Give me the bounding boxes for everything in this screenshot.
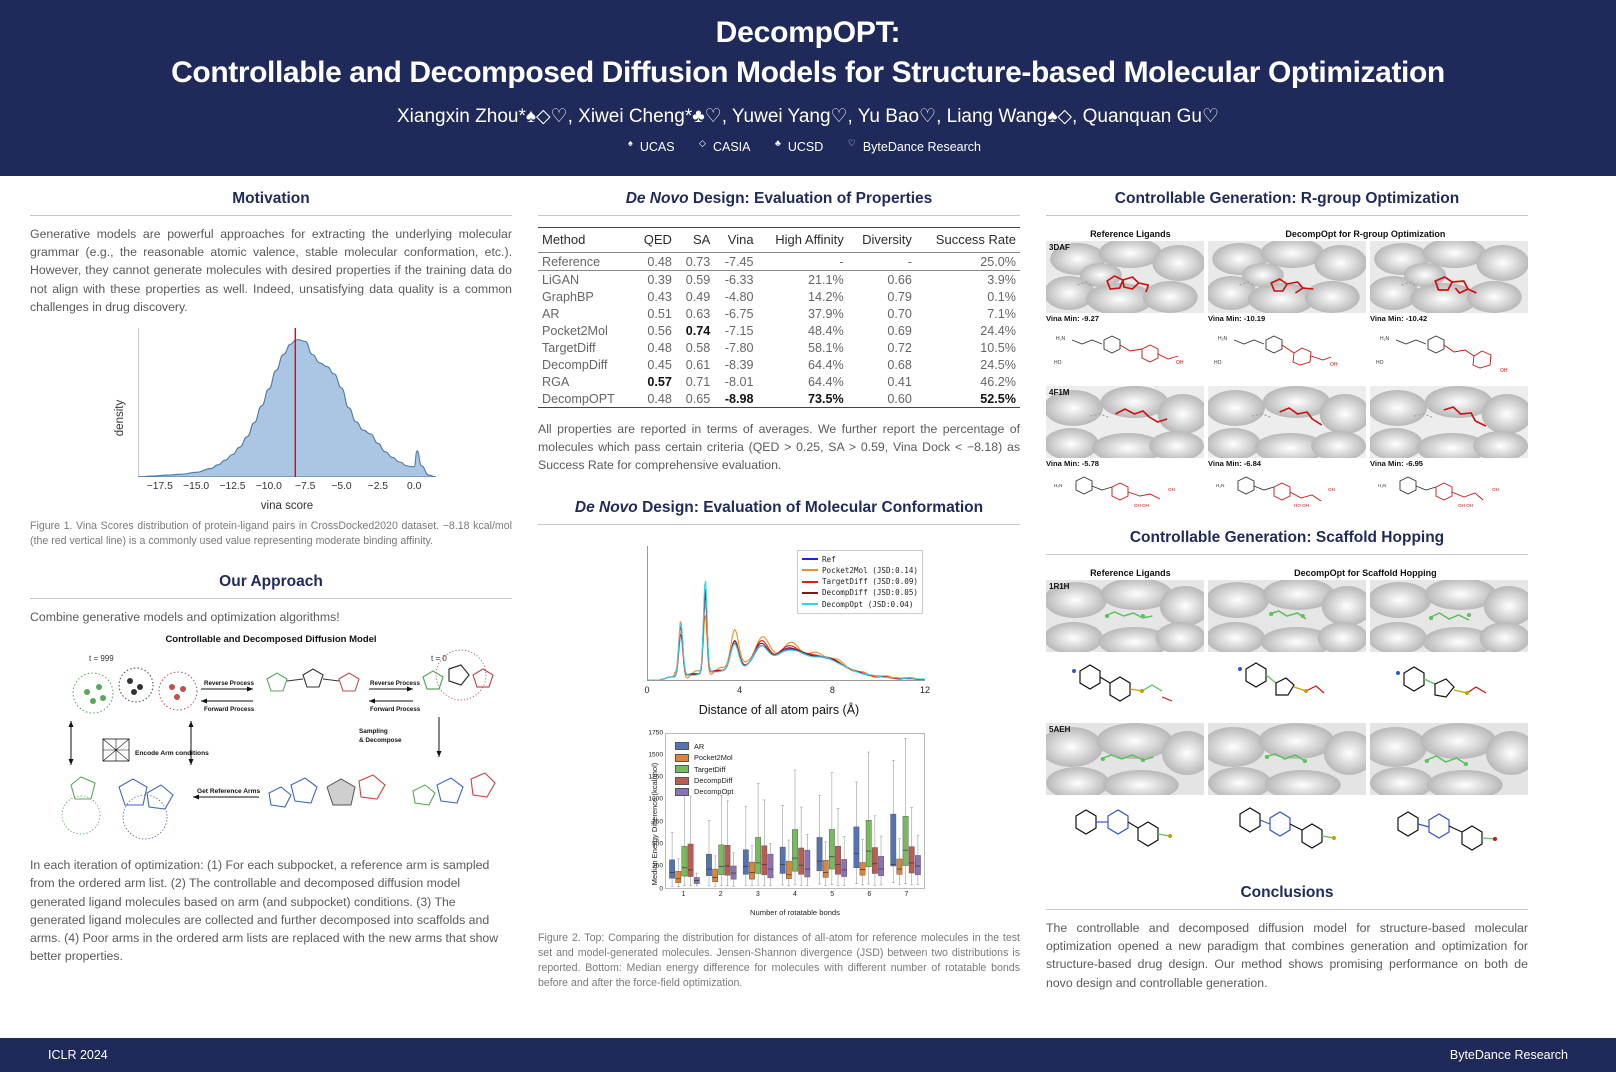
legend-swatch [802, 581, 818, 583]
molecule-svg: H₂N HO OH OH [1208, 469, 1366, 511]
svg-text:Forward Process: Forward Process [370, 706, 421, 713]
divider [1046, 909, 1528, 910]
cell-success-rate: 10.5% [916, 339, 1020, 356]
cell-sa: 0.73 [676, 253, 714, 271]
legend-item: DecompDiff [675, 775, 733, 786]
cell-diversity: 0.70 [848, 305, 916, 322]
cell-sa: 0.49 [676, 288, 714, 305]
approach-diagram-svg: t = 999 t = 0 [30, 645, 512, 841]
cell-high-affinity: 64.4% [758, 356, 848, 373]
box-x-tick: 6 [867, 891, 871, 898]
box-x-tick: 1 [682, 891, 686, 898]
molecule-svg: H₂N OH OH OH [1370, 469, 1528, 511]
divider [30, 215, 512, 216]
cell-method: Reference [538, 253, 633, 271]
cell-vina: -7.45 [714, 253, 757, 271]
figure1-caption: Figure 1. Vina Scores distribution of pr… [30, 519, 512, 549]
kde-tick: −2.5 [368, 481, 388, 492]
cell-sa: 0.71 [676, 373, 714, 390]
section-title-rgroup: Controllable Generation: R-group Optimiz… [1046, 190, 1528, 208]
legend-label: Pocket2Mol [694, 752, 733, 763]
cell-qed: 0.48 [633, 253, 676, 271]
rgroup-row-3daf-vinamins: Vina Min: -9.27 Vina Min: -10.19 Vina Mi… [1046, 313, 1528, 323]
figure-atom-pair-distance: Ref Pocket2Mol (JSD:0.14) TargetDiff (JS… [538, 542, 1020, 717]
surface-svg [1370, 580, 1528, 652]
box-y-tick: 1750 [648, 729, 663, 736]
footer-right-label: ByteDance Research [1450, 1048, 1568, 1062]
svg-text:H₂N: H₂N [1218, 336, 1228, 342]
surface-svg [1208, 723, 1366, 795]
surface-svg [1208, 580, 1366, 652]
legend-swatch [802, 558, 818, 560]
molecule-svg [1046, 796, 1204, 862]
poster-body: Motivation Generative models are powerfu… [0, 176, 1616, 1038]
molecule-svg [1208, 653, 1366, 719]
table-col-high-affinity: High Affinity [758, 228, 848, 253]
legend-swatch [675, 765, 689, 773]
divider [30, 598, 512, 599]
title-italic-part: De Novo [575, 499, 638, 516]
line-x-axis-label: Distance of all atom pairs (Å) [629, 703, 929, 717]
legend-label: DecompDiff [694, 775, 732, 786]
cell-diversity: 0.66 [848, 271, 916, 289]
cell-high-affinity: 37.9% [758, 305, 848, 322]
poster-footer: ICLR 2024 ByteDance Research [0, 1038, 1616, 1072]
table-col-diversity: Diversity [848, 228, 916, 253]
protein-surface-image [1370, 386, 1528, 458]
cell-method: GraphBP [538, 288, 633, 305]
molecule-svg: H₂N HO OH [1370, 324, 1528, 382]
cell-method: AR [538, 305, 633, 322]
legend-swatch [675, 777, 689, 785]
affiliation-symbol: ♠ [628, 138, 633, 148]
molecule-svg: H₂N HO OH [1208, 324, 1366, 382]
legend-item: AR [675, 741, 733, 752]
scaffold-row-5aeh-molecules [1046, 796, 1528, 862]
svg-text:H₂N: H₂N [1216, 483, 1224, 488]
affiliation-list: ♠UCAS ◇CASIA ♣UCSD ♡ByteDance Research [30, 138, 1586, 154]
cell-vina: -6.33 [714, 271, 757, 289]
cell-success-rate: 0.1% [916, 288, 1020, 305]
poster-header: DecompOPT: Controllable and Decomposed D… [0, 0, 1616, 176]
molecule-structure [1046, 796, 1204, 862]
section-title-denovo-conformation: De Novo Design: Evaluation of Molecular … [538, 499, 1020, 517]
cell-method: RGA [538, 373, 633, 390]
legend-label: Pocket2Mol (JSD:0.14) [822, 565, 918, 576]
box-decompopt [731, 866, 736, 879]
cell-diversity: 0.68 [848, 356, 916, 373]
line-tick: 4 [737, 685, 742, 695]
box-decompopt [878, 856, 883, 875]
legend-item: Ref [802, 554, 918, 565]
section-title-approach: Our Approach [30, 573, 512, 591]
cell-qed: 0.57 [633, 373, 676, 390]
molecule-structure [1208, 653, 1366, 719]
box-decompdiff [688, 844, 693, 877]
cell-diversity: 0.41 [848, 373, 916, 390]
box-x-tick: 7 [904, 891, 908, 898]
molecule-structure [1370, 653, 1528, 719]
box-decompdiff [762, 845, 767, 874]
cell-diversity: - [848, 253, 916, 271]
protein-surface-image [1208, 241, 1366, 313]
box-y-tick: 0 [659, 885, 663, 892]
column-middle: De Novo Design: Evaluation of Properties… [538, 190, 1020, 1038]
legend-item: TargetDiff [675, 764, 733, 775]
svg-text:HO: HO [1214, 360, 1222, 366]
cell-qed: 0.43 [633, 288, 676, 305]
svg-text:OH: OH [1176, 360, 1184, 366]
protein-surface-image [1208, 723, 1366, 795]
surface-svg [1046, 580, 1204, 652]
svg-text:H₂N: H₂N [1380, 336, 1390, 342]
molecule-structure: H₂N HO OH [1370, 324, 1528, 382]
vina-min-label: Vina Min: -9.27 [1046, 314, 1204, 323]
cell-diversity: 0.69 [848, 322, 916, 339]
kde-y-axis-label: density [114, 400, 126, 436]
cell-qed: 0.48 [633, 390, 676, 408]
cell-high-affinity: 58.1% [758, 339, 848, 356]
svg-text:t = 999: t = 999 [89, 654, 114, 663]
box-ar [706, 854, 711, 876]
kde-tick: −7.5 [295, 481, 315, 492]
box-decompopt [805, 850, 810, 877]
cell-vina: -7.15 [714, 322, 757, 339]
box-pocket2mol [786, 861, 791, 879]
molecule-structure: H₂N HO OH [1046, 324, 1204, 382]
cell-high-affinity: 14.2% [758, 288, 848, 305]
legend-label: TargetDiff [694, 764, 726, 775]
protein-surface-image [1370, 241, 1528, 313]
line-chart-legend: Ref Pocket2Mol (JSD:0.14) TargetDiff (JS… [797, 550, 923, 614]
table-col-sa: SA [676, 228, 714, 253]
svg-text:Encode Arm conditions: Encode Arm conditions [135, 750, 209, 757]
box-y-tick: 1250 [648, 774, 663, 781]
cell-vina: -4.80 [714, 288, 757, 305]
motivation-text: Generative models are powerful approache… [30, 225, 512, 316]
cell-success-rate: 7.1% [916, 305, 1020, 322]
vina-min-label: Vina Min: -6.95 [1370, 459, 1528, 468]
svg-text:Reverse Process: Reverse Process [370, 680, 420, 687]
svg-text:HO: HO [1376, 360, 1384, 366]
legend-swatch [675, 754, 689, 762]
rgroup-header-decompopt: DecompOpt for R-group Optimization [1209, 229, 1522, 239]
svg-text:HO OH: HO OH [1294, 503, 1309, 508]
column-right: Controllable Generation: R-group Optimiz… [1046, 190, 1528, 1038]
svg-text:Reverse Process: Reverse Process [204, 680, 254, 687]
cell-sa: 0.61 [676, 356, 714, 373]
box-decompdiff [872, 847, 877, 873]
box-ar [743, 849, 748, 874]
box-pocket2mol [823, 860, 828, 877]
rgroup-row-4f1m-vinamins: Vina Min: -5.78 Vina Min: -6.84 Vina Min… [1046, 458, 1528, 468]
table-method-rows: LiGAN0.390.59-6.3321.1%0.663.9%GraphBP0.… [538, 271, 1020, 408]
affiliation-item: ♣UCSD [775, 140, 830, 154]
vina-min-label: Vina Min: -10.19 [1208, 314, 1366, 323]
cell-method: TargetDiff [538, 339, 633, 356]
legend-item: Pocket2Mol (JSD:0.14) [802, 565, 918, 576]
table-row: Pocket2Mol0.560.74-7.1548.4%0.6924.4% [538, 322, 1020, 339]
scaffold-column-headers: Reference Ligands DecompOpt for Scaffold… [1046, 568, 1528, 578]
line-tick: 8 [830, 685, 835, 695]
pdb-id-label: 5AEH [1049, 725, 1070, 734]
kde-x-axis-label: vina score [138, 500, 436, 512]
divider [538, 215, 1020, 216]
table-row: RGA0.570.71-8.0164.4%0.4146.2% [538, 373, 1020, 390]
box-decompdiff [909, 846, 914, 872]
molecule-svg [1046, 653, 1204, 719]
title-rest-part: Design: Evaluation of Molecular Conforma… [638, 499, 983, 516]
box-decompdiff [725, 845, 730, 875]
footer-left-label: ICLR 2024 [48, 1048, 108, 1062]
svg-text:OH: OH [1328, 487, 1335, 492]
cell-vina: -8.01 [714, 373, 757, 390]
box-pocket2mol [712, 869, 717, 882]
affiliation-item: ◇CASIA [699, 140, 757, 154]
cell-qed: 0.39 [633, 271, 676, 289]
box-decompopt [915, 855, 920, 874]
cell-high-affinity: 73.5% [758, 390, 848, 408]
conclusions-text: The controllable and decomposed diffusio… [1046, 919, 1528, 992]
legend-label: DecompOpt (JSD:0.04) [822, 599, 913, 610]
table-row: DecompOPT0.480.65-8.9873.5%0.6052.5% [538, 390, 1020, 408]
svg-text:OH: OH [1330, 362, 1338, 368]
molecule-structure: H₂N HO OH [1208, 324, 1366, 382]
box-decompdiff [835, 846, 840, 874]
svg-text:OH OH: OH OH [1134, 503, 1149, 508]
table-row-reference: Reference 0.48 0.73 -7.45 - - 25.0% [538, 253, 1020, 271]
box-x-tick: 3 [756, 891, 760, 898]
table-row: LiGAN0.390.59-6.3321.1%0.663.9% [538, 271, 1020, 289]
svg-text:OH OH: OH OH [1458, 503, 1473, 508]
protein-surface-image: 5AEH [1046, 723, 1204, 795]
box-targetdiff [903, 816, 908, 865]
box-targetdiff [829, 829, 834, 869]
box-y-tick: 750 [652, 818, 663, 825]
legend-swatch [675, 788, 689, 796]
table-col-vina: Vina [714, 228, 757, 253]
kde-tick: −10.0 [256, 481, 282, 492]
protein-surface-image: 4F1M [1046, 386, 1204, 458]
table-note: All properties are reported in terms of … [538, 420, 1020, 475]
cell-diversity: 0.72 [848, 339, 916, 356]
divider [1046, 215, 1528, 216]
cell-sa: 0.59 [676, 271, 714, 289]
molecule-svg [1370, 653, 1528, 719]
cell-high-affinity: 21.1% [758, 271, 848, 289]
title-italic-part: De Novo [626, 190, 689, 207]
section-title-conclusions: Conclusions [1046, 884, 1528, 902]
box-ar [891, 814, 896, 866]
affiliation-name: UCAS [640, 140, 675, 154]
poster-title-line2: Controllable and Decomposed Diffusion Mo… [30, 54, 1586, 92]
rgroup-row-3daf-images: 3DAF [1046, 241, 1528, 313]
molecule-structure [1208, 796, 1366, 862]
scaffold-row-1r1h-images: 1R1H [1046, 580, 1528, 652]
rgroup-row-4f1m-images: 4F1M [1046, 386, 1528, 458]
divider [1046, 554, 1528, 555]
box-ar [854, 826, 859, 867]
vina-min-label: Vina Min: -5.78 [1046, 459, 1204, 468]
molecule-structure: H₂N HO OH OH [1208, 469, 1366, 511]
pdb-id-label: 4F1M [1049, 388, 1069, 397]
kde-svg [138, 328, 436, 477]
molecule-svg [1370, 796, 1528, 862]
cell-success-rate: 3.9% [916, 271, 1020, 289]
line-x-tick-labels: 04812 [647, 685, 925, 697]
figure2-caption: Figure 2. Top: Comparing the distributio… [538, 931, 1020, 991]
cell-vina: -8.98 [714, 390, 757, 408]
cell-qed: 0.51 [633, 305, 676, 322]
svg-text:H₂N: H₂N [1378, 483, 1386, 488]
box-y-tick: 1500 [648, 751, 663, 758]
legend-label: AR [694, 741, 704, 752]
legend-item: TargetDiff (JSD:0.09) [802, 576, 918, 587]
box-targetdiff [682, 846, 687, 876]
table-col-method: Method [538, 228, 633, 253]
table-body: Reference 0.48 0.73 -7.45 - - 25.0% [538, 253, 1020, 271]
box-decompopt [841, 859, 846, 876]
cell-diversity: 0.79 [848, 288, 916, 305]
cell-sa: 0.63 [676, 305, 714, 322]
cell-success-rate: 24.4% [916, 322, 1020, 339]
rgroup-row-4f1m-molecules: H₂N OH OH OH H₂N HO OH OH [1046, 469, 1528, 511]
kde-x-tick-labels: −17.5−15.0−12.5−10.0−7.5−5.0−2.50.0 [138, 481, 436, 495]
cell-diversity: 0.60 [848, 390, 916, 408]
cell-success-rate: 52.5% [916, 390, 1020, 408]
box-x-tick-labels: 1234567 [665, 891, 925, 902]
box-chart: Median Energy Difference (kcal/mol) 0250… [629, 729, 929, 919]
table-row: AR0.510.63-6.7537.9%0.707.1% [538, 305, 1020, 322]
cell-vina: -8.39 [714, 356, 757, 373]
box-y-tick: 250 [652, 863, 663, 870]
box-x-tick: 2 [719, 891, 723, 898]
kde-plot-area [138, 328, 436, 477]
vina-min-label: Vina Min: -10.42 [1370, 314, 1528, 323]
box-y-tick: 1000 [648, 796, 663, 803]
cell-sa: 0.74 [676, 322, 714, 339]
vina-min-label: Vina Min: -6.84 [1208, 459, 1366, 468]
cell-method: LiGAN [538, 271, 633, 289]
surface-svg [1370, 386, 1528, 458]
cell-method: Pocket2Mol [538, 322, 633, 339]
figure-median-energy-boxplot: Median Energy Difference (kcal/mol) 0250… [538, 729, 1020, 919]
box-y-tick: 500 [652, 840, 663, 847]
cell-method: DecompOPT [538, 390, 633, 408]
rgroup-column-headers: Reference Ligands DecompOpt for R-group … [1046, 229, 1528, 239]
box-ar [669, 859, 674, 877]
legend-item: DecompOpt (JSD:0.04) [802, 599, 918, 610]
box-decompdiff [798, 848, 803, 874]
svg-text:H₂N: H₂N [1056, 336, 1066, 342]
pdb-id-label: 3DAF [1049, 243, 1070, 252]
scaffold-row-5aeh-images: 5AEH [1046, 723, 1528, 795]
box-pocket2mol [676, 871, 681, 882]
molecule-structure [1046, 653, 1204, 719]
title-rest-part: Design: Evaluation of Properties [689, 190, 933, 207]
legend-label: TargetDiff (JSD:0.09) [822, 576, 918, 587]
legend-swatch [675, 742, 689, 750]
cell-success-rate: 25.0% [916, 253, 1020, 271]
poster-title-line1: DecompOPT: [30, 14, 1586, 52]
line-chart: Ref Pocket2Mol (JSD:0.14) TargetDiff (JS… [629, 542, 929, 717]
cell-sa: 0.58 [676, 339, 714, 356]
column-left: Motivation Generative models are powerfu… [30, 190, 512, 1038]
box-y-tick-labels: 02505007501000125015001750 [639, 733, 665, 889]
diagram-title: Controllable and Decomposed Diffusion Mo… [30, 634, 512, 645]
divider [538, 524, 1020, 525]
svg-text:HO: HO [1054, 360, 1062, 366]
box-pocket2mol [860, 862, 865, 875]
legend-swatch [802, 592, 818, 594]
surface-svg [1046, 386, 1204, 458]
cell-method: DecompDiff [538, 356, 633, 373]
protein-surface-image: 3DAF [1046, 241, 1204, 313]
protein-surface-image: 1R1H [1046, 580, 1204, 652]
figure-vina-kde: density −17.5−15.0−12.5−10.0−7.5−5.0−2.5… [30, 326, 512, 511]
table-col-success-rate: Success Rate [916, 228, 1020, 253]
cell-qed: 0.45 [633, 356, 676, 373]
surface-svg [1208, 241, 1366, 313]
protein-surface-image [1370, 580, 1528, 652]
box-x-axis-label: Number of rotatable bonds [665, 908, 925, 917]
svg-text:Get Reference Arms: Get Reference Arms [197, 788, 260, 795]
affiliation-name: CASIA [713, 140, 751, 154]
table-col-qed: QED [633, 228, 676, 253]
box-targetdiff [792, 829, 797, 871]
affiliation-symbol: ♡ [848, 138, 856, 148]
kde-tick: −12.5 [219, 481, 245, 492]
kde-tick: −17.5 [147, 481, 173, 492]
affiliation-symbol: ♣ [775, 138, 781, 148]
svg-text:OH: OH [1168, 487, 1175, 492]
molecule-structure [1370, 796, 1528, 862]
affiliation-symbol: ◇ [699, 138, 706, 148]
box-decompopt [768, 854, 773, 878]
table-header-row: Method QED SA Vina High Affinity Diversi… [538, 228, 1020, 253]
figure-approach-diagram: Controllable and Decomposed Diffusion Mo… [30, 634, 512, 844]
protein-surface-image [1208, 386, 1366, 458]
cell-qed: 0.48 [633, 339, 676, 356]
svg-text:Forward Process: Forward Process [204, 706, 255, 713]
molecule-svg: H₂N HO OH [1046, 324, 1204, 382]
cell-success-rate: 46.2% [916, 373, 1020, 390]
table-row: DecompDiff0.450.61-8.3964.4%0.6824.5% [538, 356, 1020, 373]
section-title-scaffold: Controllable Generation: Scaffold Hoppin… [1046, 529, 1528, 547]
cell-qed: 0.56 [633, 322, 676, 339]
cell-high-affinity: 64.4% [758, 373, 848, 390]
legend-label: DecompDiff (JSD:0.05) [822, 587, 918, 598]
approach-detail-text: In each iteration of optimization: (1) F… [30, 856, 512, 965]
kde-tick: −5.0 [331, 481, 351, 492]
box-x-tick: 5 [830, 891, 834, 898]
scaffold-header-reference: Reference Ligands [1052, 568, 1209, 578]
svg-text:& Decompose: & Decompose [359, 737, 402, 744]
table-row: GraphBP0.430.49-4.8014.2%0.790.1% [538, 288, 1020, 305]
rgroup-row-3daf-molecules: H₂N HO OH H₂N HO [1046, 324, 1528, 382]
legend-item: Pocket2Mol [675, 752, 733, 763]
box-targetdiff [719, 844, 724, 874]
scaffold-header-decompopt: DecompOpt for Scaffold Hopping [1209, 568, 1522, 578]
molecule-svg [1208, 796, 1366, 862]
svg-text:Sampling: Sampling [359, 728, 388, 735]
author-list: Xiangxin Zhou*♠◇♡, Xiwei Cheng*♣♡, Yuwei… [30, 105, 1586, 128]
affiliation-name: UCSD [788, 140, 823, 154]
box-ar [817, 837, 822, 870]
rgroup-header-reference: Reference Ligands [1052, 229, 1209, 239]
approach-lead-text: Combine generative models and optimizati… [30, 608, 512, 626]
legend-item: DecompOpt [675, 786, 733, 797]
